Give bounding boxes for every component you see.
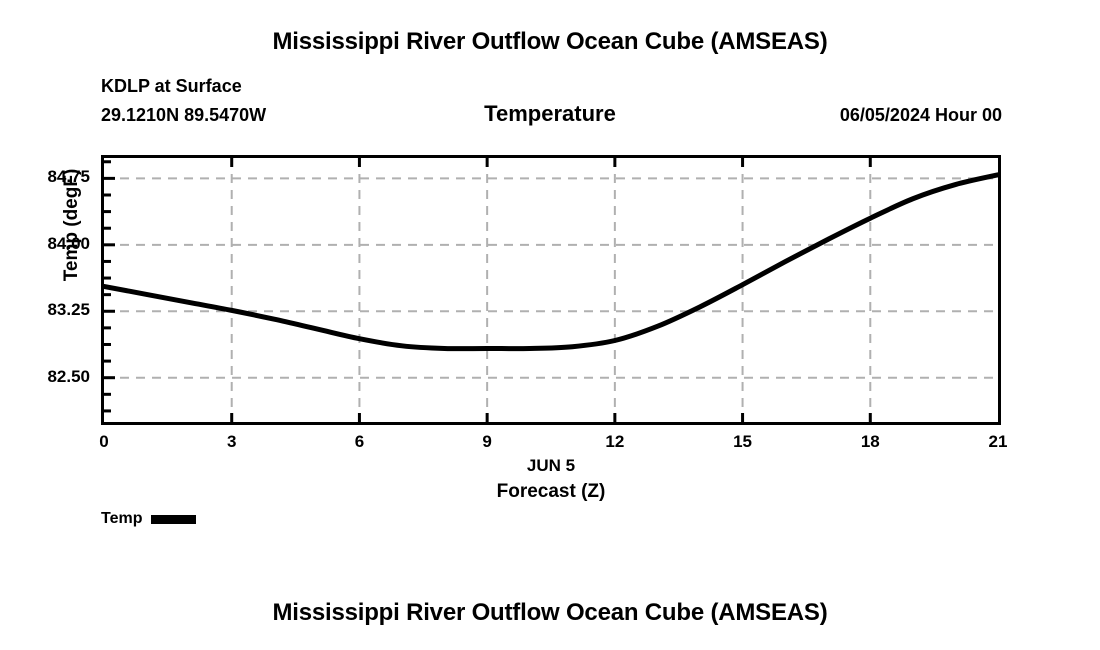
y-tick-label: 84.00 [0,234,90,254]
y-tick-label: 83.25 [0,300,90,320]
y-tick-label: 84.75 [0,167,90,187]
x-tick-label: 12 [585,432,645,452]
station-label: KDLP at Surface [101,76,242,97]
x-axis-label: Forecast (Z) [101,481,1001,503]
x-axis-date-label: JUN 5 [101,456,1001,476]
legend-color-swatch [151,515,196,524]
legend-item-label: Temp [101,510,142,528]
x-tick-label: 0 [74,432,134,452]
plot-area [101,155,1001,425]
y-tick-label: 82.50 [0,367,90,387]
footer-title: Mississippi River Outflow Ocean Cube (AM… [0,599,1100,627]
data-line-temp [104,175,998,349]
x-tick-label: 18 [840,432,900,452]
temperature-line-chart [104,158,998,422]
x-tick-label: 9 [457,432,517,452]
gridlines [104,158,998,422]
page-title: Mississippi River Outflow Ocean Cube (AM… [0,28,1100,56]
x-tick-label: 6 [329,432,389,452]
chart-page: Mississippi River Outflow Ocean Cube (AM… [0,0,1100,650]
x-tick-label: 15 [713,432,773,452]
plot-inner [104,158,998,422]
x-tick-label: 3 [202,432,262,452]
chart-legend: Temp [101,510,196,528]
run-datetime-label: 06/05/2024 Hour 00 [840,105,1002,126]
x-tick-label: 21 [968,432,1028,452]
